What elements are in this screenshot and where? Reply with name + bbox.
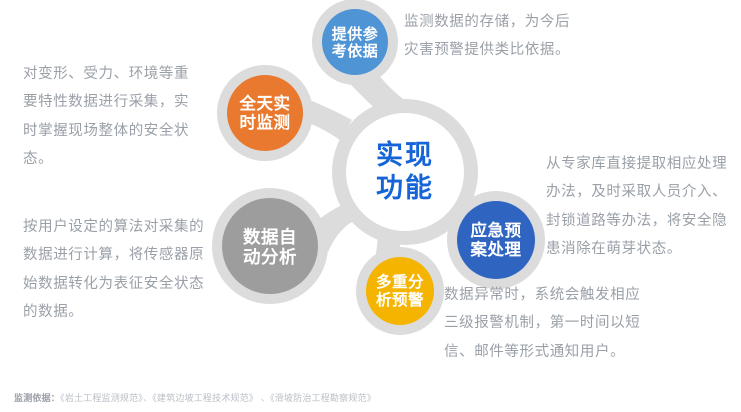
description-line: 从专家库直接提取相应处理 bbox=[546, 150, 741, 178]
description-line: 信、邮件等形式通知用户。 bbox=[444, 338, 704, 366]
description-all-day-realtime-monitoring: 对变形、受力、环境等重 要特性数据进行采集，实 时掌握现场整体的安全状 态。 bbox=[23, 60, 233, 173]
disc-provide-reference-basis[interactable] bbox=[322, 9, 388, 75]
description-line: 按用户设定的算法对采集的 bbox=[23, 213, 233, 241]
description-multiple-analysis-warning: 数据异常时，系统会触发相应 三级报警机制，第一时间以短 信、邮件等形式通知用户。 bbox=[444, 281, 704, 366]
description-line: 封锁道路等办法，将安全隐 bbox=[546, 207, 741, 235]
disc-emergency-plan-handling[interactable] bbox=[457, 201, 535, 279]
description-line: 数据进行计算，将传感器原 bbox=[23, 241, 233, 269]
disc-multiple-analysis-warning[interactable] bbox=[366, 257, 434, 325]
description-emergency-plan-handling: 从专家库直接提取相应处理 办法，及时采取人员介入、 封锁道路等办法，将安全隐 患… bbox=[546, 150, 741, 263]
description-line: 始数据转化为表征安全状态 bbox=[23, 270, 233, 298]
disc-all-day-realtime-monitoring[interactable] bbox=[227, 75, 303, 151]
description-line: 灾害预警提供类比依据。 bbox=[404, 36, 644, 64]
footer-standards: 《岩土工程监测规范》、《建筑边坡工程技术规范》 、《滑坡防治工程勘察规范》 bbox=[60, 393, 376, 403]
disc-center[interactable] bbox=[346, 113, 464, 231]
description-line: 办法，及时采取人员介入、 bbox=[546, 178, 741, 206]
description-line: 对变形、受力、环境等重 bbox=[23, 60, 233, 88]
footer-note: 监测依据：《岩土工程监测规范》、《建筑边坡工程技术规范》 、《滑坡防治工程勘察规… bbox=[14, 391, 376, 404]
description-automatic-data-analysis: 按用户设定的算法对采集的 数据进行计算，将传感器原 始数据转化为表征安全状态 的… bbox=[23, 213, 233, 326]
description-line: 态。 bbox=[23, 145, 233, 173]
footer-label: 监测依据： bbox=[14, 393, 60, 403]
description-line: 数据异常时，系统会触发相应 bbox=[444, 281, 704, 309]
description-line: 患消除在萌芽状态。 bbox=[546, 235, 741, 263]
description-line: 时掌握现场整体的安全状 bbox=[23, 117, 233, 145]
description-line: 的数据。 bbox=[23, 298, 233, 326]
diagram-canvas: 实现 功能 提供参 考依据 全天实 时监测 数据自 动分析 多重分 析预警 应急… bbox=[0, 0, 741, 412]
description-line: 三级报警机制，第一时间以短 bbox=[444, 309, 704, 337]
disc-automatic-data-analysis[interactable] bbox=[222, 198, 318, 294]
description-provide-reference-basis: 监测数据的存储，为今后 灾害预警提供类比依据。 bbox=[404, 8, 644, 65]
description-line: 要特性数据进行采集，实 bbox=[23, 88, 233, 116]
description-line: 监测数据的存储，为今后 bbox=[404, 8, 644, 36]
